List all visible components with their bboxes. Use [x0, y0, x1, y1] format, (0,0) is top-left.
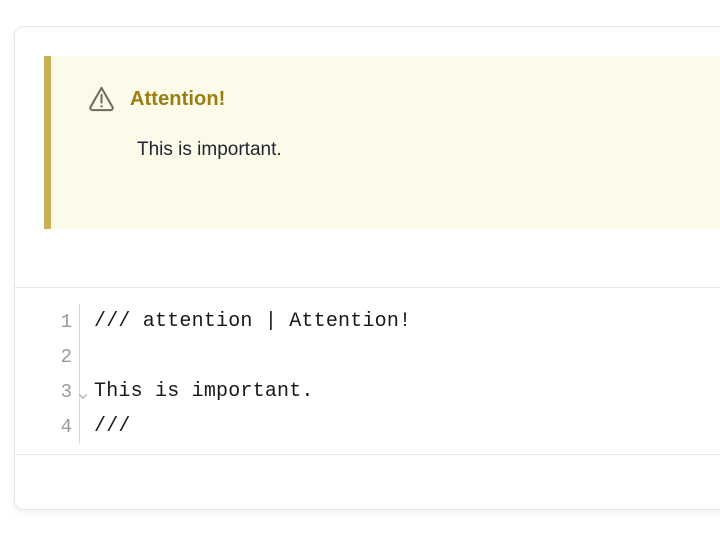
line-number-gutter: 3 [15, 374, 79, 409]
warning-triangle-icon [87, 84, 116, 113]
card-footer [15, 455, 720, 509]
code-line-text[interactable]: /// [80, 409, 720, 444]
code-line-row: 1 /// attention | Attention! [15, 304, 720, 339]
code-line-row: 3 This is important. [15, 374, 720, 409]
code-pane[interactable]: 1 /// attention | Attention! 2 3 [15, 288, 720, 455]
line-number-gutter: 2 [15, 339, 79, 374]
chevron-down-icon[interactable] [77, 386, 89, 398]
callout-body-text: This is important. [51, 113, 720, 162]
line-number-gutter: 4 [15, 409, 79, 444]
line-number-gutter: 1 [15, 304, 79, 339]
code-line-text[interactable] [80, 339, 720, 374]
demo-card: Attention! This is important. 1 /// atte… [14, 26, 720, 510]
line-number: 4 [61, 416, 72, 438]
line-number: 2 [61, 346, 72, 368]
line-number: 3 [61, 381, 72, 403]
preview-pane: Attention! This is important. [15, 27, 720, 288]
code-line-row: 2 [15, 339, 720, 374]
code-line-text[interactable]: This is important. [80, 374, 720, 409]
screenshot-root: Attention! This is important. 1 /// atte… [0, 0, 720, 544]
attention-callout: Attention! This is important. [44, 56, 720, 229]
callout-title: Attention! [130, 89, 225, 109]
code-line-text[interactable]: /// attention | Attention! [80, 304, 720, 339]
code-line-row: 4 /// [15, 409, 720, 444]
callout-title-row: Attention! [51, 56, 720, 113]
line-number: 1 [61, 311, 72, 333]
